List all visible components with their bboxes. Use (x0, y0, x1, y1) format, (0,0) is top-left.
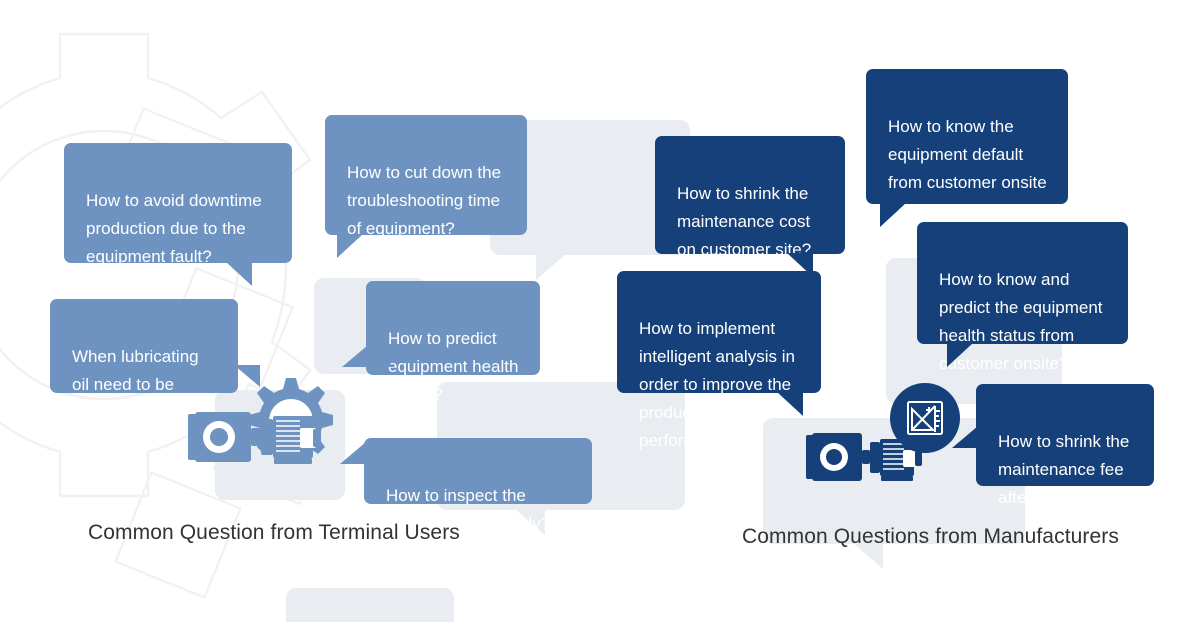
bubble-text: How to shrink the maintenance fee after … (998, 432, 1129, 507)
bubble-predict-health-status[interactable]: How to predict equipment health status? (366, 281, 540, 375)
ghost-bubble-tail (536, 254, 566, 280)
ghost-bubble (286, 588, 454, 622)
bubble-tail (880, 203, 906, 227)
infographic-canvas: How to avoid downtime production due to … (0, 0, 1200, 622)
bubble-text: How to avoid downtime production due to … (86, 191, 262, 266)
bubble-know-predict-health-status[interactable]: How to know and predict the equipment he… (917, 222, 1128, 344)
bubble-avoid-downtime[interactable]: How to avoid downtime production due to … (64, 143, 292, 263)
bubble-tail (777, 392, 803, 416)
bubble-tail (342, 345, 394, 367)
bubble-tail (226, 262, 252, 286)
left-section-caption: Common Question from Terminal Users (88, 521, 460, 545)
bubble-tail (337, 234, 363, 258)
bubble-know-equipment-default[interactable]: How to know the equipment default from c… (866, 69, 1068, 204)
drafting-badge (890, 383, 960, 453)
bubble-tail (947, 343, 973, 367)
bubble-text: How to cut down the troubleshooting time… (347, 163, 501, 238)
left-gearbox-motor-icon (186, 372, 350, 482)
bubble-text: When lubricating oil need to be added? (72, 347, 199, 422)
bubble-shrink-maintenance-fee[interactable]: How to shrink the maintenance fee after … (976, 384, 1154, 486)
right-section-caption: Common Questions from Manufacturers (742, 525, 1119, 549)
bubble-text: How to shrink the maintenance cost on cu… (677, 184, 811, 259)
badge-circle-bg (890, 383, 960, 453)
bubble-text: How to know the equipment default from c… (888, 117, 1047, 220)
bubble-cut-troubleshooting-time[interactable]: How to cut down the troubleshooting time… (325, 115, 527, 235)
bubble-implement-intelligent-analysis[interactable]: How to implement intelligent analysis in… (617, 271, 821, 393)
bubble-shrink-maintenance-cost[interactable]: How to shrink the maintenance cost on cu… (655, 136, 845, 254)
bubble-inspect-efficiently[interactable]: How to inspect the equipment efficiently… (364, 438, 592, 504)
